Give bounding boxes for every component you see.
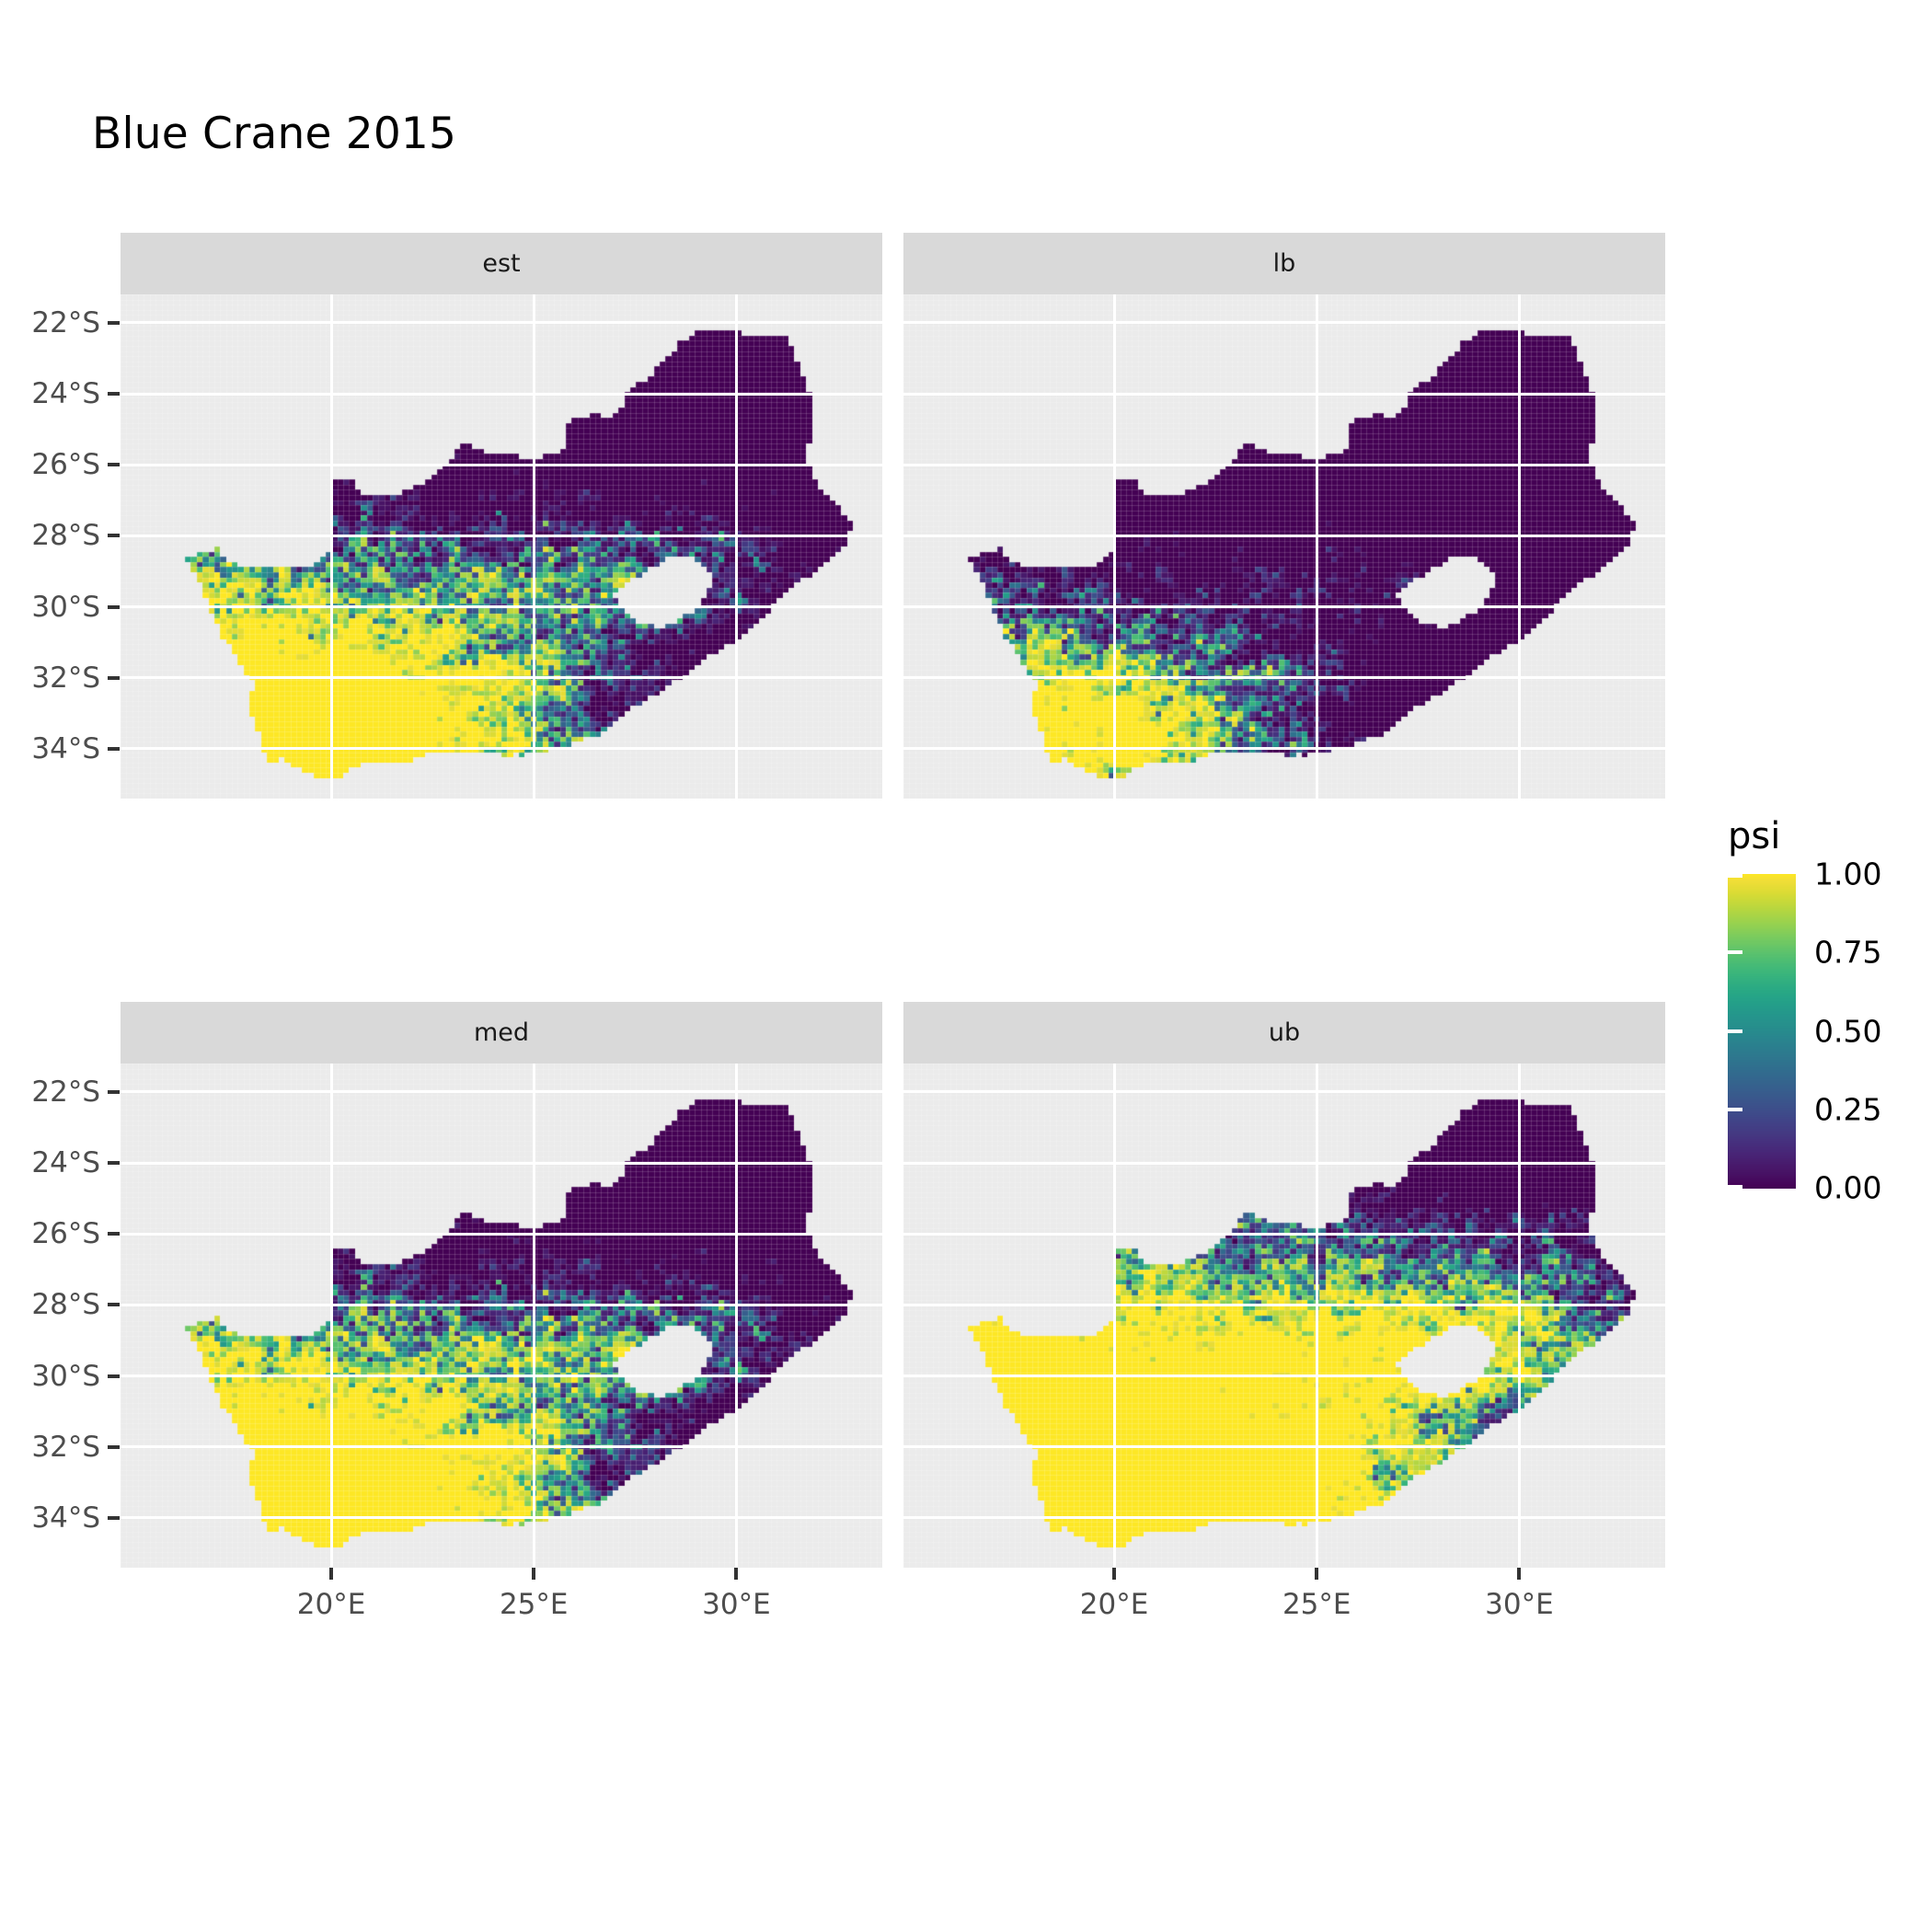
legend-tick bbox=[1728, 874, 1742, 878]
y-axis-tick-label: 32°S bbox=[31, 1431, 100, 1464]
legend-tick bbox=[1906, 1108, 1921, 1111]
legend-tick-label: 0.75 bbox=[1814, 935, 1881, 971]
y-axis-tick-label: 28°S bbox=[31, 1288, 100, 1321]
y-axis-tick bbox=[108, 1516, 120, 1520]
legend-tick-label: 1.00 bbox=[1814, 857, 1881, 892]
y-axis-tick bbox=[108, 1161, 120, 1165]
y-axis-tick-label: 34°S bbox=[31, 732, 100, 765]
legend-tick bbox=[1906, 950, 1921, 954]
facet-strip-label: lb bbox=[1273, 249, 1296, 278]
raster-map-lb bbox=[903, 294, 1665, 799]
map-panel-ub bbox=[903, 1064, 1665, 1568]
y-axis-tick bbox=[108, 1374, 120, 1378]
legend-tick bbox=[1728, 1108, 1742, 1111]
raster-map-med bbox=[121, 1064, 882, 1568]
x-axis-tick bbox=[1315, 1568, 1318, 1580]
x-axis-tick-label: 25°E bbox=[500, 1588, 569, 1621]
legend-tick bbox=[1728, 950, 1742, 954]
legend-body: 1.000.750.500.250.00 bbox=[1728, 874, 1921, 1189]
facet-strip-med: med bbox=[121, 1002, 882, 1064]
y-axis-tick bbox=[108, 534, 120, 537]
raster-map-est bbox=[121, 294, 882, 799]
facet-panel-lb: lb bbox=[903, 233, 1665, 799]
map-panel-est bbox=[121, 294, 882, 799]
page-title: Blue Crane 2015 bbox=[92, 109, 456, 160]
y-axis-tick-label: 30°S bbox=[31, 591, 100, 624]
legend-tick-label: 0.00 bbox=[1814, 1170, 1881, 1206]
y-axis-tick bbox=[108, 321, 120, 325]
facet-strip-label: med bbox=[474, 1018, 529, 1047]
y-axis-tick bbox=[108, 676, 120, 680]
facet-panel-ub: ub bbox=[903, 1002, 1665, 1568]
raster-map-ub bbox=[903, 1064, 1665, 1568]
y-axis-tick-label: 34°S bbox=[31, 1501, 100, 1535]
legend-title: psi bbox=[1728, 815, 1921, 857]
legend-tick bbox=[1906, 874, 1921, 878]
x-axis-tick bbox=[1517, 1568, 1521, 1580]
y-axis-tick-label: 30°S bbox=[31, 1360, 100, 1393]
legend: psi 1.000.750.500.250.00 bbox=[1728, 815, 1921, 1189]
legend-tick-label: 0.25 bbox=[1814, 1091, 1881, 1127]
legend-tick-label: 0.50 bbox=[1814, 1013, 1881, 1049]
x-axis-tick bbox=[1112, 1568, 1116, 1580]
x-axis-tick bbox=[532, 1568, 535, 1580]
y-axis-tick-label: 22°S bbox=[31, 306, 100, 339]
legend-tick bbox=[1906, 1029, 1921, 1033]
y-axis-tick-label: 24°S bbox=[31, 1146, 100, 1179]
legend-tick bbox=[1906, 1185, 1921, 1189]
plot-root: Blue Crane 2015 est lb med ub bbox=[0, 0, 1932, 1932]
y-axis-tick-label: 22°S bbox=[31, 1075, 100, 1109]
y-axis-tick-label: 26°S bbox=[31, 1217, 100, 1250]
x-axis-tick bbox=[734, 1568, 738, 1580]
legend-tick bbox=[1728, 1029, 1742, 1033]
y-axis-tick-label: 32°S bbox=[31, 661, 100, 695]
x-axis-tick-label: 30°E bbox=[702, 1588, 771, 1621]
facet-strip-est: est bbox=[121, 233, 882, 294]
y-axis-tick-label: 26°S bbox=[31, 448, 100, 481]
y-axis-tick bbox=[108, 392, 120, 396]
legend-tick bbox=[1728, 1185, 1742, 1189]
y-axis-tick bbox=[108, 463, 120, 466]
y-axis-tick-label: 28°S bbox=[31, 519, 100, 552]
facet-strip-ub: ub bbox=[903, 1002, 1665, 1064]
x-axis-tick bbox=[329, 1568, 333, 1580]
y-axis-tick bbox=[108, 1445, 120, 1449]
facet-panel-med: med bbox=[121, 1002, 882, 1568]
x-axis-tick-label: 25°E bbox=[1282, 1588, 1351, 1621]
facet-strip-lb: lb bbox=[903, 233, 1665, 294]
y-axis-tick bbox=[108, 1232, 120, 1236]
x-axis-tick-label: 30°E bbox=[1485, 1588, 1554, 1621]
y-axis-tick bbox=[108, 1090, 120, 1094]
y-axis-tick bbox=[108, 605, 120, 609]
facet-strip-label: est bbox=[482, 249, 520, 278]
map-panel-med bbox=[121, 1064, 882, 1568]
facet-panel-est: est bbox=[121, 233, 882, 799]
map-panel-lb bbox=[903, 294, 1665, 799]
facet-strip-label: ub bbox=[1269, 1018, 1300, 1047]
y-axis-tick-label: 24°S bbox=[31, 377, 100, 410]
x-axis-tick-label: 20°E bbox=[297, 1588, 366, 1621]
y-axis-tick bbox=[108, 747, 120, 751]
y-axis-tick bbox=[108, 1303, 120, 1306]
x-axis-tick-label: 20°E bbox=[1080, 1588, 1149, 1621]
